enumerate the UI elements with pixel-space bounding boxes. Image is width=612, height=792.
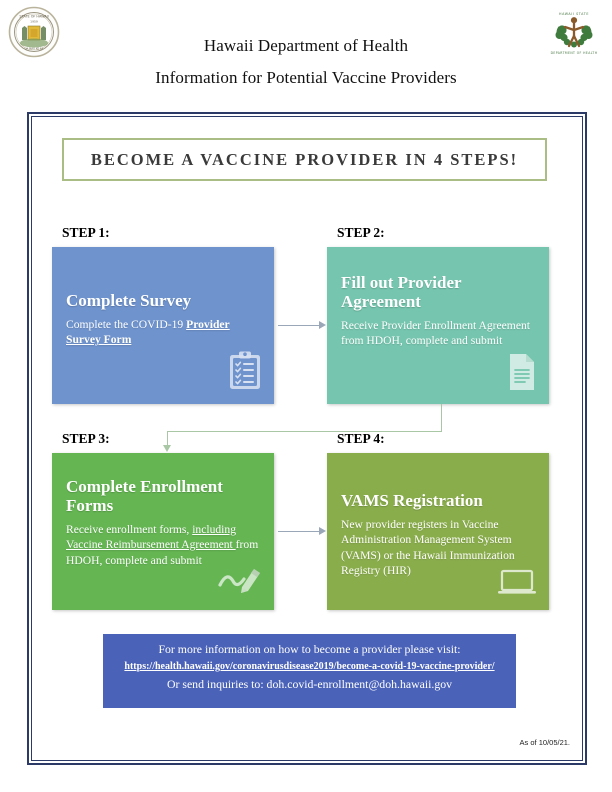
connector-step3-to-step4-arrowhead [319, 527, 326, 535]
provider-page-url-link[interactable]: https://health.hawaii.gov/coronavirusdis… [103, 661, 516, 672]
footer-info-box: For more information on how to become a … [103, 634, 516, 708]
connector-step2-to-step3-arrowhead [163, 445, 171, 452]
step-1-body: Complete the COVID-19 Provider Survey Fo… [66, 317, 260, 348]
step-2-card: Fill out Provider Agreement Receive Prov… [327, 247, 549, 404]
step-1-label: STEP 1: [62, 225, 110, 241]
step-1-body-prefix: Complete the COVID-19 [66, 318, 186, 331]
connector-step1-to-step2-arrowhead [319, 321, 326, 329]
clipboard-checklist-icon [228, 351, 262, 396]
connector-step2-to-step3-down [441, 404, 442, 432]
connector-step1-to-step2 [278, 325, 319, 326]
svg-text:STATE OF HAWAII: STATE OF HAWAII [19, 15, 48, 19]
laptop-icon [497, 569, 537, 602]
page-subtitle: Information for Potential Vaccine Provid… [0, 68, 612, 88]
svg-text:HAWAII STATE: HAWAII STATE [559, 12, 589, 16]
connector-step2-to-step3-drop [167, 431, 168, 446]
step-3-label: STEP 3: [62, 431, 110, 447]
svg-text:1959: 1959 [30, 20, 38, 24]
banner: BECOME A VACCINE PROVIDER IN 4 STEPS! [62, 138, 547, 181]
step-4-headline: VAMS Registration [341, 469, 535, 510]
connector-step3-to-step4 [278, 531, 319, 532]
connector-step2-to-step3-across [167, 431, 442, 432]
step-3-headline: Complete Enrollment Forms [66, 469, 260, 515]
step-1-headline: Complete Survey [66, 263, 260, 310]
step-2-label: STEP 2: [337, 225, 385, 241]
step-3-body: Receive enrollment forms, including Vacc… [66, 522, 260, 568]
step-1-card: Complete Survey Complete the COVID-19 Pr… [52, 247, 274, 404]
footer-line-1: For more information on how to become a … [103, 642, 516, 657]
banner-text: BECOME A VACCINE PROVIDER IN 4 STEPS! [91, 150, 518, 170]
step-2-headline: Fill out Provider Agreement [341, 263, 535, 311]
step-3-body-prefix: Receive enrollment forms, [66, 523, 192, 536]
step-3-card: Complete Enrollment Forms Receive enroll… [52, 453, 274, 610]
flyer-page: STATE OF HAWAII 1959 UA MAU KE EA HAWAII… [0, 0, 612, 792]
step-4-card: VAMS Registration New provider registers… [327, 453, 549, 610]
footer-line-3: Or send inquiries to: doh.covid-enrollme… [103, 677, 516, 692]
signature-pen-icon [218, 565, 262, 602]
page-title: Hawaii Department of Health [0, 36, 612, 56]
step-2-body: Receive Provider Enrollment Agreement fr… [341, 318, 535, 349]
page-title-block: Hawaii Department of Health Information … [0, 36, 612, 88]
as-of-date: As of 10/05/21. [520, 738, 570, 747]
step-4-label: STEP 4: [337, 431, 385, 447]
document-icon [507, 353, 537, 396]
